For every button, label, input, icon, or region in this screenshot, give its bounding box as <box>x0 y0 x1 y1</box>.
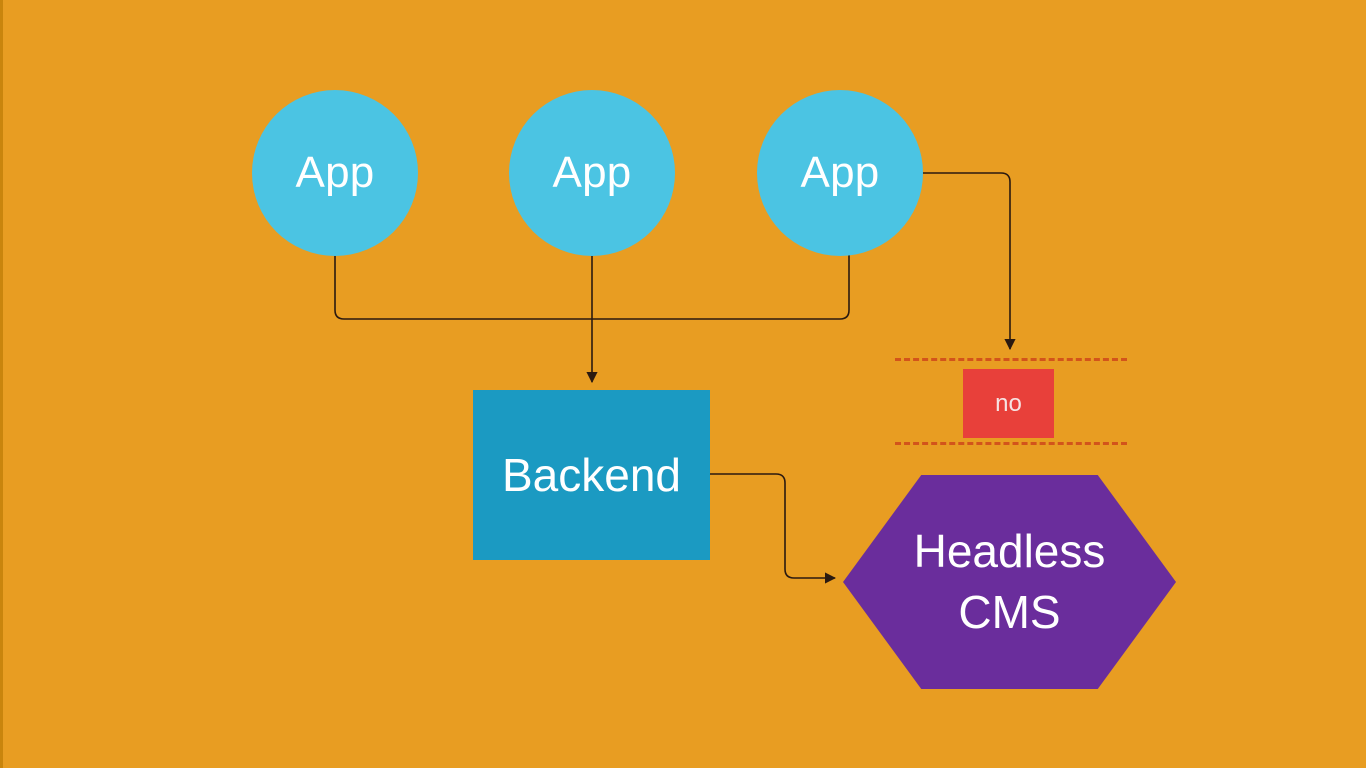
node-app-3-label: App <box>801 148 880 198</box>
node-app-1-label: App <box>296 148 375 198</box>
connector-app3-to-no <box>922 173 1010 349</box>
dashed-rule-top <box>895 358 1127 361</box>
connector-layer <box>0 0 1366 768</box>
node-headless-cms-label-line-2: CMS <box>958 582 1060 643</box>
node-no-badge-label: no <box>995 390 1022 418</box>
node-app-1[interactable]: App <box>252 90 418 256</box>
diagram-canvas: App App App Backend no Headless CMS <box>0 0 1366 768</box>
connector-apps-to-backend <box>335 252 849 382</box>
node-app-2[interactable]: App <box>509 90 675 256</box>
dashed-rule-bottom <box>895 442 1127 445</box>
left-edge-strip <box>0 0 3 768</box>
node-app-3[interactable]: App <box>757 90 923 256</box>
node-backend-label: Backend <box>502 448 681 502</box>
node-headless-cms-label-line-1: Headless <box>914 521 1106 582</box>
connector-backend-to-cms <box>710 474 835 578</box>
node-headless-cms[interactable]: Headless CMS <box>843 475 1176 689</box>
node-no-badge[interactable]: no <box>963 369 1054 438</box>
node-app-2-label: App <box>553 148 632 198</box>
node-backend[interactable]: Backend <box>473 390 710 560</box>
